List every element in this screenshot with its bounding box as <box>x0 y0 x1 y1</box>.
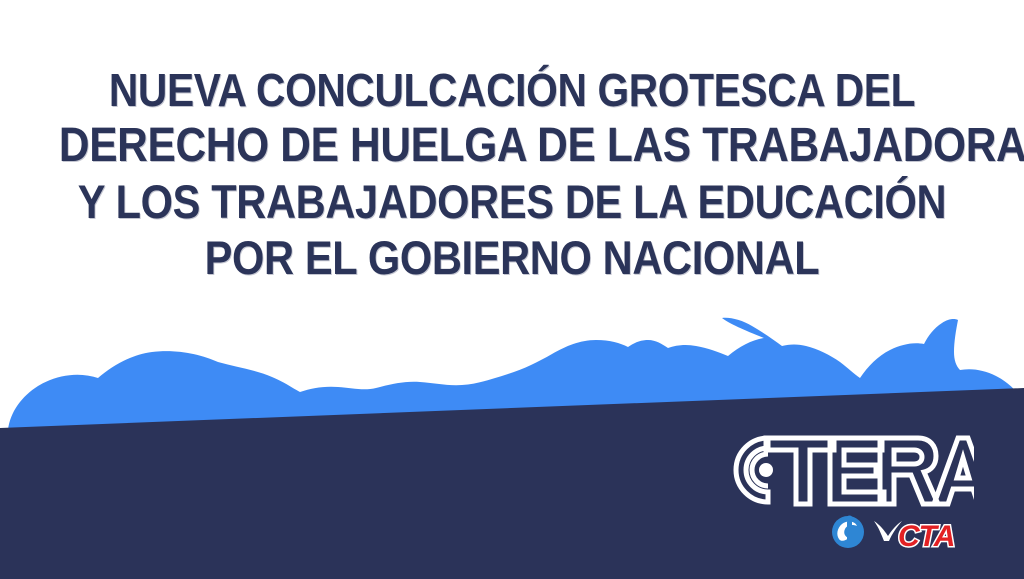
headline-line-3: Y LOS TRABAJADORES DE LA EDUCACIÓN <box>59 174 965 230</box>
headline-line-4: POR EL GOBIERNO NACIONAL <box>59 230 965 286</box>
cta-wordmark: CTA <box>898 520 954 553</box>
cta-person-icon <box>832 516 864 549</box>
svg-text:CTA: CTA <box>898 520 954 553</box>
ctera-logo-letters <box>766 438 974 504</box>
headline-block: NUEVA CONCULCACIÓN GROTESCA DEL DERECHO … <box>0 62 1024 286</box>
cta-logo: CTA <box>826 508 974 558</box>
poster-canvas: NUEVA CONCULCACIÓN GROTESCA DEL DERECHO … <box>0 0 1024 579</box>
ctera-logo <box>706 424 974 520</box>
headline-line-2: DERECHO DE HUELGA DE LAS TRABAJADORAS <box>59 118 965 174</box>
headline-line-1: NUEVA CONCULCACIÓN GROTESCA DEL <box>59 62 965 118</box>
